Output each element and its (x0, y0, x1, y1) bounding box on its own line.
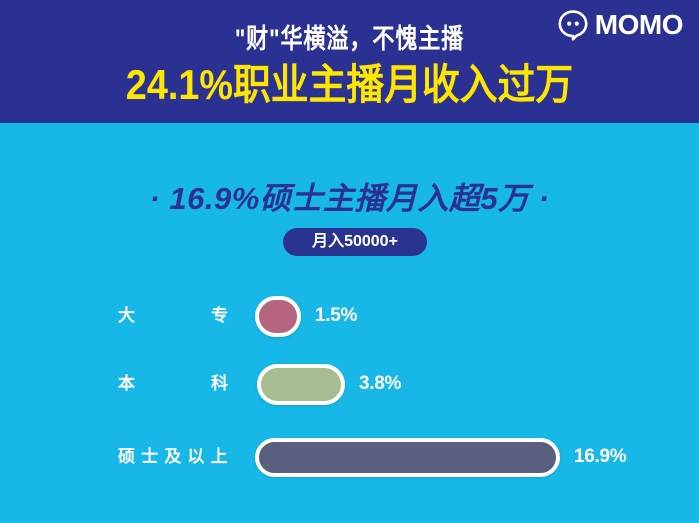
header-subtitle: "财"华横溢，不愧主播 (63, 22, 636, 56)
infographic-root: "财"华横溢，不愧主播 24.1%职业主播月收入过万 MOMO · 16.9%硕… (0, 0, 699, 523)
chart-row: 本科 3.8% (0, 360, 699, 408)
bar-category-label: 大专 (118, 306, 228, 326)
bar-category-label: 硕士及以上 (118, 447, 228, 467)
bar-fill (255, 296, 301, 337)
page-title: 24.1%职业主播月收入过万 (35, 60, 664, 110)
momo-speech-bubble-icon (557, 9, 589, 41)
momo-logo: MOMO (557, 9, 683, 41)
section-headline: · 16.9%硕士主播月入超5万 · (0, 180, 699, 218)
bar-value-label: 16.9% (574, 446, 626, 468)
bar-category-label: 本科 (118, 374, 228, 394)
bar-fill (257, 364, 345, 405)
bar-group: 16.9% (255, 438, 626, 477)
chart-row: 硕士及以上 16.9% (0, 433, 699, 481)
bar-value-label: 3.8% (359, 373, 401, 395)
content-panel: · 16.9%硕士主播月入超5万 · 月入50000+ 大专 1.5% 本科 3… (0, 123, 699, 523)
header-banner: "财"华横溢，不愧主播 24.1%职业主播月收入过万 MOMO (0, 0, 699, 123)
momo-logo-text: MOMO (595, 10, 683, 40)
status-badge: 月入50000+ (283, 228, 427, 256)
bar-value-label: 1.5% (315, 305, 357, 327)
status-badge-label: 月入50000+ (312, 233, 398, 251)
bar-chart: 大专 1.5% 本科 3.8% 硕士及以上 16.9% (0, 278, 699, 508)
bar-fill (255, 438, 560, 477)
bar-group: 1.5% (255, 296, 357, 337)
bar-group: 3.8% (257, 364, 401, 405)
chart-row: 大专 1.5% (0, 292, 699, 340)
